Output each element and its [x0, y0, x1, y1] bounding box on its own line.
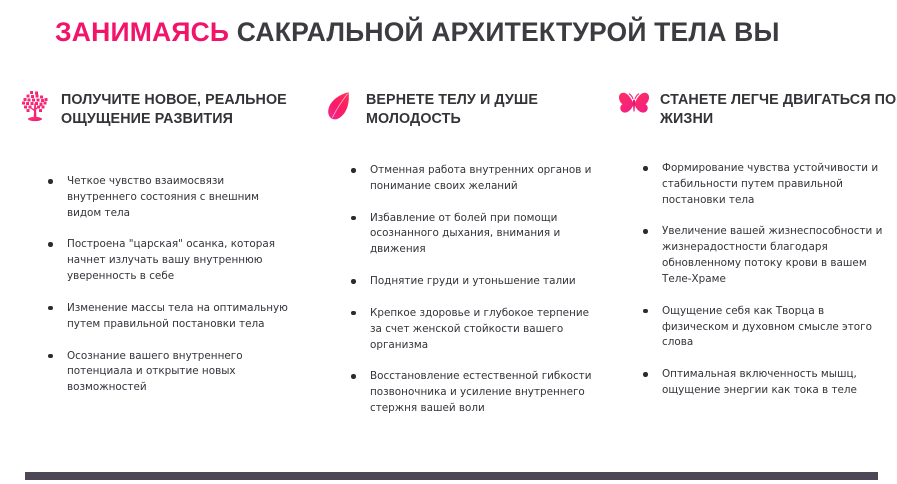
benefit-columns: ПОЛУЧИТЕ НОВОЕ, РЕАЛЬНОЕ ОЩУЩЕНИЕ РАЗВИТ…: [0, 88, 897, 417]
list-item: Изменение массы тела на оптимальную путе…: [48, 301, 288, 333]
column-1-header: ПОЛУЧИТЕ НОВОЕ, РЕАЛЬНОЕ ОЩУЩЕНИЕ РАЗВИТ…: [18, 88, 305, 129]
list-item: Отменная работа внутренних органов и пон…: [351, 163, 601, 195]
list-item-text: Формирование чувства устойчивости и стаб…: [662, 162, 878, 206]
list-item-text: Изменение массы тела на оптимальную путе…: [67, 302, 288, 330]
leaf-icon: [323, 88, 357, 126]
title-accent-word: ЗАНИМАЯСЬ: [55, 17, 229, 47]
bullet-dot-icon: [351, 168, 356, 173]
bullet-dot-icon: [643, 229, 648, 234]
bullet-dot-icon: [351, 374, 356, 379]
list-item-text: Построена "царская" осанка, которая начн…: [67, 238, 275, 282]
list-item: Четкое чувство взаимосвязи внутреннего с…: [48, 174, 288, 221]
column-3-bullet-list: Формирование чувства устойчивости и стаб…: [643, 161, 893, 399]
bottom-accent-bar: [25, 472, 878, 480]
benefit-column-2: ВЕРНЕТЕ ТЕЛУ И ДУШЕ МОЛОДОСТЬ Отменная р…: [305, 88, 603, 417]
bullet-dot-icon: [48, 179, 53, 184]
benefit-column-1: ПОЛУЧИТЕ НОВОЕ, РЕАЛЬНОЕ ОЩУЩЕНИЕ РАЗВИТ…: [0, 88, 305, 396]
list-item: Увеличение вашей жизнеспособности и жизн…: [643, 224, 893, 287]
bullet-dot-icon: [643, 372, 648, 377]
list-item: Ощущение себя как Творца в физическом и …: [643, 304, 893, 351]
butterfly-icon: [617, 88, 651, 126]
list-item-text: Отменная работа внутренних органов и пон…: [370, 164, 591, 192]
title-rest: САКРАЛЬНОЙ АРХИТЕКТУРОЙ ТЕЛА ВЫ: [229, 17, 779, 47]
list-item-text: Оптимальная включенность мышц, ощущение …: [662, 368, 857, 396]
column-2-title: ВЕРНЕТЕ ТЕЛУ И ДУШЕ МОЛОДОСТЬ: [366, 88, 603, 129]
list-item-text: Избавление от болей при помощи осознанно…: [370, 212, 560, 256]
bullet-dot-icon: [48, 242, 53, 247]
title-text: ЗАНИМАЯСЬ САКРАЛЬНОЙ АРХИТЕКТУРОЙ ТЕЛА В…: [55, 18, 865, 47]
list-item-text: Осознание вашего внутреннего потенциала …: [67, 350, 243, 394]
bullet-dot-icon: [643, 309, 648, 314]
list-item-text: Крепкое здоровье и глубокое терпение за …: [370, 307, 589, 351]
tree-icon: [18, 88, 52, 126]
benefit-column-3: СТАНЕТЕ ЛЕГЧЕ ДВИГАТЬСЯ ПО ЖИЗНИ Формиро…: [603, 88, 897, 399]
column-2-header: ВЕРНЕТЕ ТЕЛУ И ДУШЕ МОЛОДОСТЬ: [323, 88, 603, 129]
list-item: Оптимальная включенность мышц, ощущение …: [643, 367, 893, 399]
list-item: Восстановление естественной гибкости поз…: [351, 369, 601, 416]
list-item-text: Восстановление естественной гибкости поз…: [370, 370, 592, 414]
list-item: Избавление от болей при помощи осознанно…: [351, 211, 601, 258]
bullet-dot-icon: [351, 311, 356, 316]
bullet-dot-icon: [643, 166, 648, 171]
bullet-dot-icon: [48, 306, 53, 311]
column-1-title: ПОЛУЧИТЕ НОВОЕ, РЕАЛЬНОЕ ОЩУЩЕНИЕ РАЗВИТ…: [61, 88, 305, 129]
list-item: Крепкое здоровье и глубокое терпение за …: [351, 306, 601, 353]
list-item: Построена "царская" осанка, которая начн…: [48, 237, 288, 284]
bullet-dot-icon: [351, 279, 356, 284]
list-item: Осознание вашего внутреннего потенциала …: [48, 349, 288, 396]
column-2-bullet-list: Отменная работа внутренних органов и пон…: [351, 163, 601, 417]
list-item: Поднятие груди и утоньшение талии: [351, 274, 601, 290]
list-item-text: Четкое чувство взаимосвязи внутреннего с…: [67, 175, 259, 219]
list-item: Формирование чувства устойчивости и стаб…: [643, 161, 893, 208]
page-title: ЗАНИМАЯСЬ САКРАЛЬНОЙ АРХИТЕКТУРОЙ ТЕЛА В…: [55, 18, 865, 47]
list-item-text: Ощущение себя как Творца в физическом и …: [662, 305, 872, 349]
slide-root: ЗАНИМАЯСЬ САКРАЛЬНОЙ АРХИТЕКТУРОЙ ТЕЛА В…: [0, 0, 897, 484]
column-1-bullet-list: Четкое чувство взаимосвязи внутреннего с…: [48, 174, 288, 396]
column-3-title: СТАНЕТЕ ЛЕГЧЕ ДВИГАТЬСЯ ПО ЖИЗНИ: [660, 88, 897, 129]
bullet-dot-icon: [48, 354, 53, 359]
list-item-text: Поднятие груди и утоньшение талии: [370, 275, 576, 287]
column-3-header: СТАНЕТЕ ЛЕГЧЕ ДВИГАТЬСЯ ПО ЖИЗНИ: [617, 88, 897, 129]
list-item-text: Увеличение вашей жизнеспособности и жизн…: [662, 225, 882, 284]
bullet-dot-icon: [351, 216, 356, 221]
